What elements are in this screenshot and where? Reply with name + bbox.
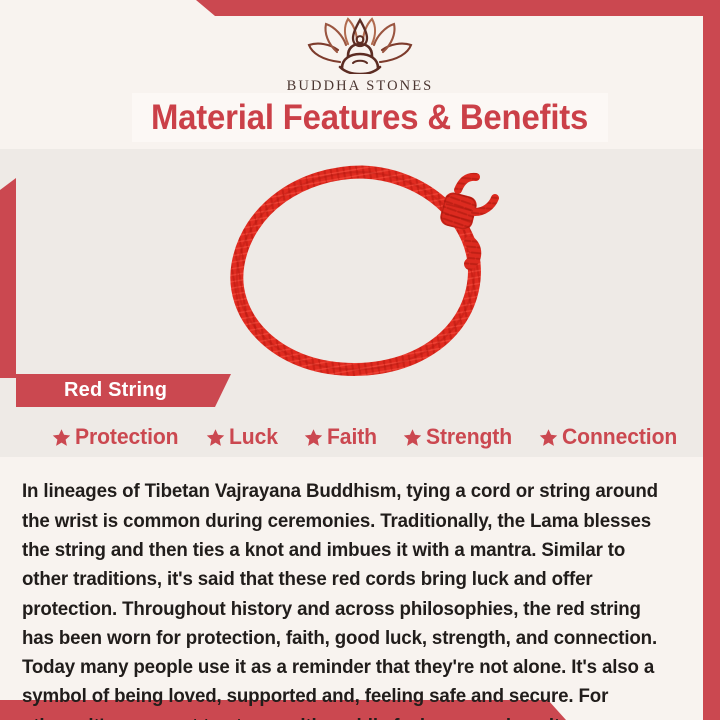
right-red-bar xyxy=(703,0,720,720)
product-name-label: Red String xyxy=(64,379,167,402)
benefit-label: Connection xyxy=(562,424,677,450)
benefit-item-connection: Connection xyxy=(539,424,682,450)
infographic-page: BUDDHA STONES Material Features & Benefi… xyxy=(0,0,720,720)
benefit-label: Faith xyxy=(327,424,377,450)
star-icon xyxy=(52,428,71,447)
product-image xyxy=(212,156,512,386)
lotus-meditation-icon xyxy=(304,16,416,74)
benefit-label: Strength xyxy=(426,424,512,450)
brand-logo: BUDDHA STONES xyxy=(0,16,720,95)
benefit-item-luck: Luck xyxy=(206,424,280,450)
title-band: Material Features & Benefits xyxy=(132,93,608,142)
benefit-item-faith: Faith xyxy=(304,424,379,450)
star-icon xyxy=(403,428,422,447)
star-icon xyxy=(539,428,558,447)
star-icon xyxy=(304,428,323,447)
description-text: In lineages of Tibetan Vajrayana Buddhis… xyxy=(22,477,670,720)
benefit-item-strength: Strength xyxy=(403,424,516,450)
benefit-item-protection: Protection xyxy=(52,424,183,450)
page-title: Material Features & Benefits xyxy=(151,98,588,138)
benefits-row: Protection Luck Faith Strength Connectio… xyxy=(52,420,682,454)
star-icon xyxy=(206,428,225,447)
product-name-banner: Red String xyxy=(16,374,231,407)
benefit-label: Luck xyxy=(229,424,278,450)
left-red-bar xyxy=(0,178,16,378)
benefit-label: Protection xyxy=(75,424,178,450)
